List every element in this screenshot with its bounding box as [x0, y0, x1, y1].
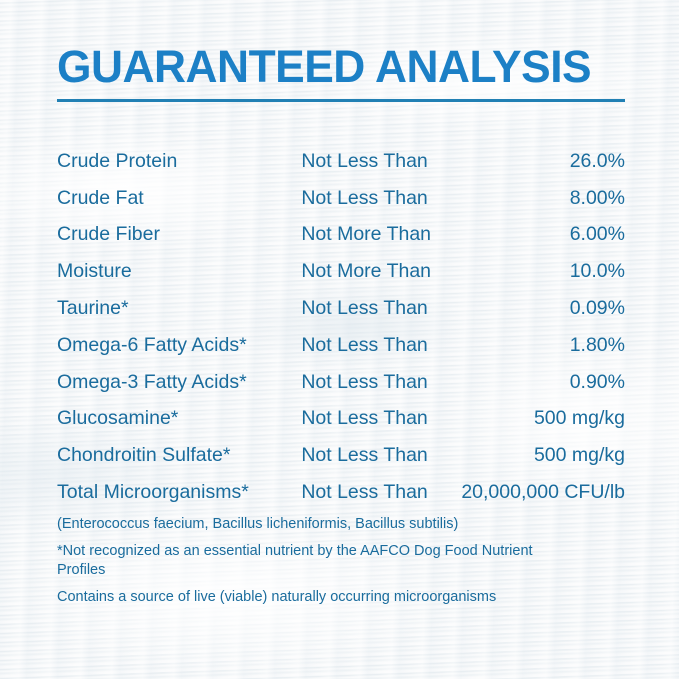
nutrient-qualifier: Not Less Than: [301, 437, 461, 474]
table-row: Omega-6 Fatty Acids* Not Less Than 1.80%: [57, 327, 625, 364]
nutrient-value: 26.0%: [461, 143, 625, 180]
nutrient-name: Taurine*: [57, 290, 301, 327]
nutrient-value: 0.09%: [461, 290, 625, 327]
nutrient-qualifier: Not Less Than: [301, 401, 461, 438]
table-row: Moisture Not More Than 10.0%: [57, 253, 625, 290]
table-body: Crude Protein Not Less Than 26.0% Crude …: [57, 143, 625, 511]
nutrient-name: Total Microorganisms*: [57, 474, 301, 511]
nutrient-name: Crude Fat: [57, 180, 301, 217]
page-title: GUARANTEED ANALYSIS: [57, 42, 618, 92]
nutrient-qualifier: Not More Than: [301, 253, 461, 290]
nutrient-value: 500 mg/kg: [461, 401, 625, 438]
note-aafco-disclaimer: *Not recognized as an essential nutrient…: [57, 542, 547, 580]
guaranteed-analysis-table: Crude Protein Not Less Than 26.0% Crude …: [57, 143, 625, 511]
panel-content: GUARANTEED ANALYSIS Crude Protein Not Le…: [0, 0, 679, 679]
title-underline-rule: [57, 99, 625, 102]
nutrient-qualifier: Not More Than: [301, 217, 461, 254]
table-row: Crude Fat Not Less Than 8.00%: [57, 180, 625, 217]
nutrient-value: 500 mg/kg: [461, 437, 625, 474]
nutrient-qualifier: Not Less Than: [301, 180, 461, 217]
note-microorganism-strains: (Enterococcus faecium, Bacillus lichenif…: [57, 515, 617, 534]
nutrient-name: Chondroitin Sulfate*: [57, 437, 301, 474]
guaranteed-analysis-panel: GUARANTEED ANALYSIS Crude Protein Not Le…: [0, 0, 679, 679]
nutrient-name: Crude Fiber: [57, 217, 301, 254]
nutrient-value: 0.90%: [461, 364, 625, 401]
table-row: Glucosamine* Not Less Than 500 mg/kg: [57, 401, 625, 438]
nutrient-qualifier: Not Less Than: [301, 474, 461, 511]
note-live-microorganisms: Contains a source of live (viable) natur…: [57, 588, 617, 607]
nutrient-value: 8.00%: [461, 180, 625, 217]
nutrient-qualifier: Not Less Than: [301, 327, 461, 364]
nutrient-name: Omega-3 Fatty Acids*: [57, 364, 301, 401]
table-row: Taurine* Not Less Than 0.09%: [57, 290, 625, 327]
nutrient-value: 20,000,000 CFU/lb: [461, 474, 625, 511]
nutrient-qualifier: Not Less Than: [301, 364, 461, 401]
nutrient-qualifier: Not Less Than: [301, 290, 461, 327]
nutrient-value: 1.80%: [461, 327, 625, 364]
nutrient-qualifier: Not Less Than: [301, 143, 461, 180]
nutrient-name: Omega-6 Fatty Acids*: [57, 327, 301, 364]
nutrient-name: Crude Protein: [57, 143, 301, 180]
table-row: Crude Protein Not Less Than 26.0%: [57, 143, 625, 180]
nutrient-name: Moisture: [57, 253, 301, 290]
table-row: Crude Fiber Not More Than 6.00%: [57, 217, 625, 254]
nutrient-value: 6.00%: [461, 217, 625, 254]
nutrient-name: Glucosamine*: [57, 401, 301, 438]
table-row: Chondroitin Sulfate* Not Less Than 500 m…: [57, 437, 625, 474]
nutrient-value: 10.0%: [461, 253, 625, 290]
table-row: Total Microorganisms* Not Less Than 20,0…: [57, 474, 625, 511]
table-row: Omega-3 Fatty Acids* Not Less Than 0.90%: [57, 364, 625, 401]
